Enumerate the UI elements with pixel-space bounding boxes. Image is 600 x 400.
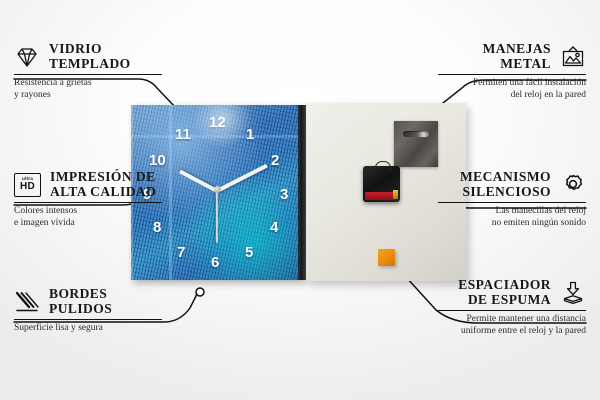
- callout-espaciador-de-espuma: Espaciador de espuma Permite mantener un…: [438, 278, 586, 337]
- numeral-10: 10: [149, 153, 166, 168]
- ultra-hd-badge-icon: ultra HD: [14, 173, 41, 197]
- gear-icon: [560, 173, 586, 197]
- marker-bordes: [196, 288, 204, 296]
- callout-description: Superficie lisa y segura: [14, 323, 162, 335]
- clock-mechanism: [363, 166, 400, 202]
- diamond-icon: [14, 45, 40, 69]
- callout-description: Las manecillas del reloj no emiten ningú…: [438, 206, 586, 229]
- numeral-7: 7: [177, 245, 185, 260]
- metal-hanger-plate: [394, 121, 438, 167]
- hands-center-cap: [214, 186, 221, 193]
- minute-hand: [216, 164, 268, 193]
- hour-hand: [179, 170, 218, 193]
- callout-title: Manejas metal: [483, 42, 551, 71]
- callout-title: Espaciador de espuma: [458, 278, 551, 307]
- callout-mecanismo-silencioso: Mecanismo silencioso Las manecillas del …: [438, 170, 586, 229]
- numeral-2: 2: [271, 153, 279, 168]
- arrow-onto-foam-icon: [560, 281, 586, 305]
- callout-vidrio-templado: Vidrio templado Resistencia a grietas y …: [14, 42, 162, 101]
- callout-description: Colores intensos e imagen vívida: [14, 206, 162, 229]
- numeral-3: 3: [280, 187, 288, 202]
- callout-title: Vidrio templado: [49, 42, 131, 71]
- numeral-1: 1: [246, 127, 254, 142]
- mechanism-battery: [365, 192, 395, 200]
- framed-picture-hanger-icon: [560, 45, 586, 69]
- callout-bordes-pulidos: Bordes pulidos Superficie lisa y segura: [14, 287, 162, 335]
- callout-title: Impresión de alta calidad: [50, 170, 156, 199]
- callout-rule: [14, 319, 162, 320]
- callout-description: Permite mantener una distancia uniforme …: [438, 314, 586, 337]
- callout-title: Bordes pulidos: [49, 287, 112, 316]
- callout-impresion-alta-calidad: ultra HD Impresión de alta calidad Color…: [14, 170, 162, 229]
- numeral-4: 4: [270, 220, 278, 235]
- numeral-6: 6: [211, 255, 219, 270]
- foam-spacer: [378, 249, 395, 266]
- mechanism-loop: [375, 161, 391, 170]
- callout-description: Resistencia a grietas y rayones: [14, 78, 162, 101]
- clock-side-edge: [298, 105, 306, 280]
- numeral-5: 5: [245, 245, 253, 260]
- ultra-hd-large-text: HD: [20, 182, 35, 192]
- callout-rule: [438, 74, 586, 75]
- hanger-slot: [403, 131, 429, 137]
- callout-rule: [14, 74, 162, 75]
- callout-description: Permiten una fácil instalación del reloj…: [438, 78, 586, 101]
- second-hand: [216, 191, 218, 243]
- callout-rule: [438, 310, 586, 311]
- callout-rule: [438, 202, 586, 203]
- callout-rule: [14, 202, 162, 203]
- callout-manejas-metal: Manejas metal Permiten una fácil instala…: [438, 42, 586, 101]
- diagonal-lines-icon: [14, 290, 40, 314]
- numeral-11: 11: [175, 127, 191, 142]
- numeral-12: 12: [209, 115, 226, 130]
- infographic-canvas: 12 1 2 3 4 5 6 7 8 9 10 11: [0, 0, 600, 400]
- callout-title: Mecanismo silencioso: [460, 170, 551, 199]
